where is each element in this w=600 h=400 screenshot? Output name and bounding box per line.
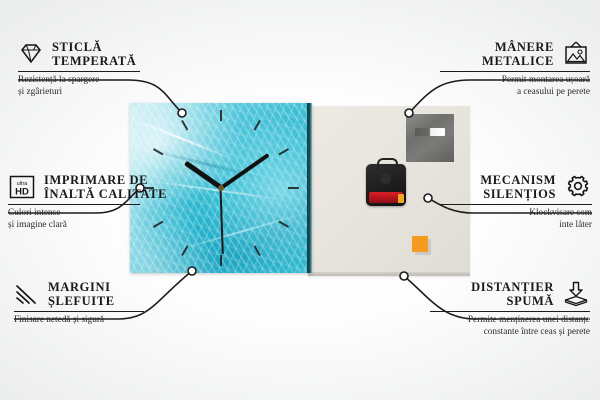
callout-title: IMPRIMARE DE ÎNALTĂ CALITATE (44, 173, 167, 201)
callout-title: MECANISM SILENȚIOS (480, 173, 556, 201)
hanger-slot (415, 128, 445, 136)
callout-header: DISTANȚIER SPUMĂ (430, 280, 590, 308)
hatch-lines-icon (14, 282, 40, 306)
mechanism-shaft (380, 173, 391, 184)
callout-sub-line2: și zgârieturi (18, 87, 163, 99)
callout-rule (430, 311, 590, 312)
clock-tick (181, 246, 188, 257)
svg-text:HD: HD (15, 187, 29, 198)
callout-sub-line1: Klockvisare som (440, 208, 592, 220)
hanger-loop (377, 158, 398, 170)
callout-sub-line2: constante între ceas și perete (430, 327, 590, 339)
callout-sub-line1: Finisare netedă și sigură (14, 315, 164, 327)
callout-silent-mechanism: MECANISM SILENȚIOS Klockvisare som inte … (440, 173, 592, 231)
clock-tick (279, 221, 290, 228)
clock-tick (181, 120, 188, 131)
callout-sub-line2: a ceasului pe perete (440, 87, 590, 99)
callout-title: MARGINI ȘLEFUITE (48, 280, 115, 308)
callout-header: MECANISM SILENȚIOS (440, 173, 592, 201)
clock-tick (254, 246, 261, 257)
callout-header: STICLĂ TEMPERATĂ (18, 40, 163, 68)
callout-title: MÂNERE METALICE (482, 40, 554, 68)
center-pin (218, 185, 224, 191)
callout-header: MÂNERE METALICE (440, 40, 590, 68)
callout-sub-line2: și imagine clară (8, 220, 168, 232)
callout-header: ultra HD IMPRIMARE DE ÎNALTĂ CALITATE (8, 173, 168, 201)
arrow-down-pad-icon (562, 281, 590, 307)
diamond-icon (18, 42, 44, 66)
clock-tick (153, 148, 164, 155)
clock-mechanism-box (366, 164, 406, 206)
foam-spacer-pad (412, 236, 428, 252)
product-photo (130, 103, 470, 278)
hanging-picture-icon (562, 41, 590, 67)
callout-rule (440, 71, 590, 72)
ultra-hd-icon: ultra HD (8, 174, 36, 200)
clock-tick (254, 120, 261, 131)
callout-sub-line1: Permite menținerea unei distanțe (430, 315, 590, 327)
callout-title: STICLĂ TEMPERATĂ (52, 40, 136, 68)
clock-tick (288, 187, 299, 189)
battery-terminal (398, 194, 404, 203)
clock-tick (220, 110, 222, 121)
callout-header: MARGINI ȘLEFUITE (14, 280, 164, 308)
callout-polished-edges: MARGINI ȘLEFUITE Finisare netedă și sigu… (14, 280, 164, 327)
callout-tempered-glass: STICLĂ TEMPERATĂ Rezistență la spargere … (18, 40, 163, 98)
metal-hanger-plate (406, 114, 454, 162)
callout-sub-line2: inte låter (440, 220, 592, 232)
callout-rule (18, 71, 140, 72)
clock-tick (279, 148, 290, 155)
callout-sub-line1: Permit montarea ușoară (440, 75, 590, 87)
callout-metal-hangers: MÂNERE METALICE Permit montarea ușoară a… (440, 40, 590, 98)
callout-sub-line1: Culori intense (8, 208, 168, 220)
callout-rule (14, 311, 144, 312)
callout-rule (440, 204, 592, 205)
callout-title: DISTANȚIER SPUMĂ (471, 280, 554, 308)
gear-icon (564, 174, 592, 200)
callout-sub-line1: Rezistență la spargere (18, 75, 163, 87)
infographic-canvas: STICLĂ TEMPERATĂ Rezistență la spargere … (0, 0, 600, 400)
callout-foam-spacer: DISTANȚIER SPUMĂ Permite menținerea unei… (430, 280, 590, 338)
glass-edge (307, 103, 312, 273)
clock-tick (220, 255, 222, 266)
callout-rule (8, 204, 140, 205)
callout-print-quality: ultra HD IMPRIMARE DE ÎNALTĂ CALITATE Cu… (8, 173, 168, 231)
